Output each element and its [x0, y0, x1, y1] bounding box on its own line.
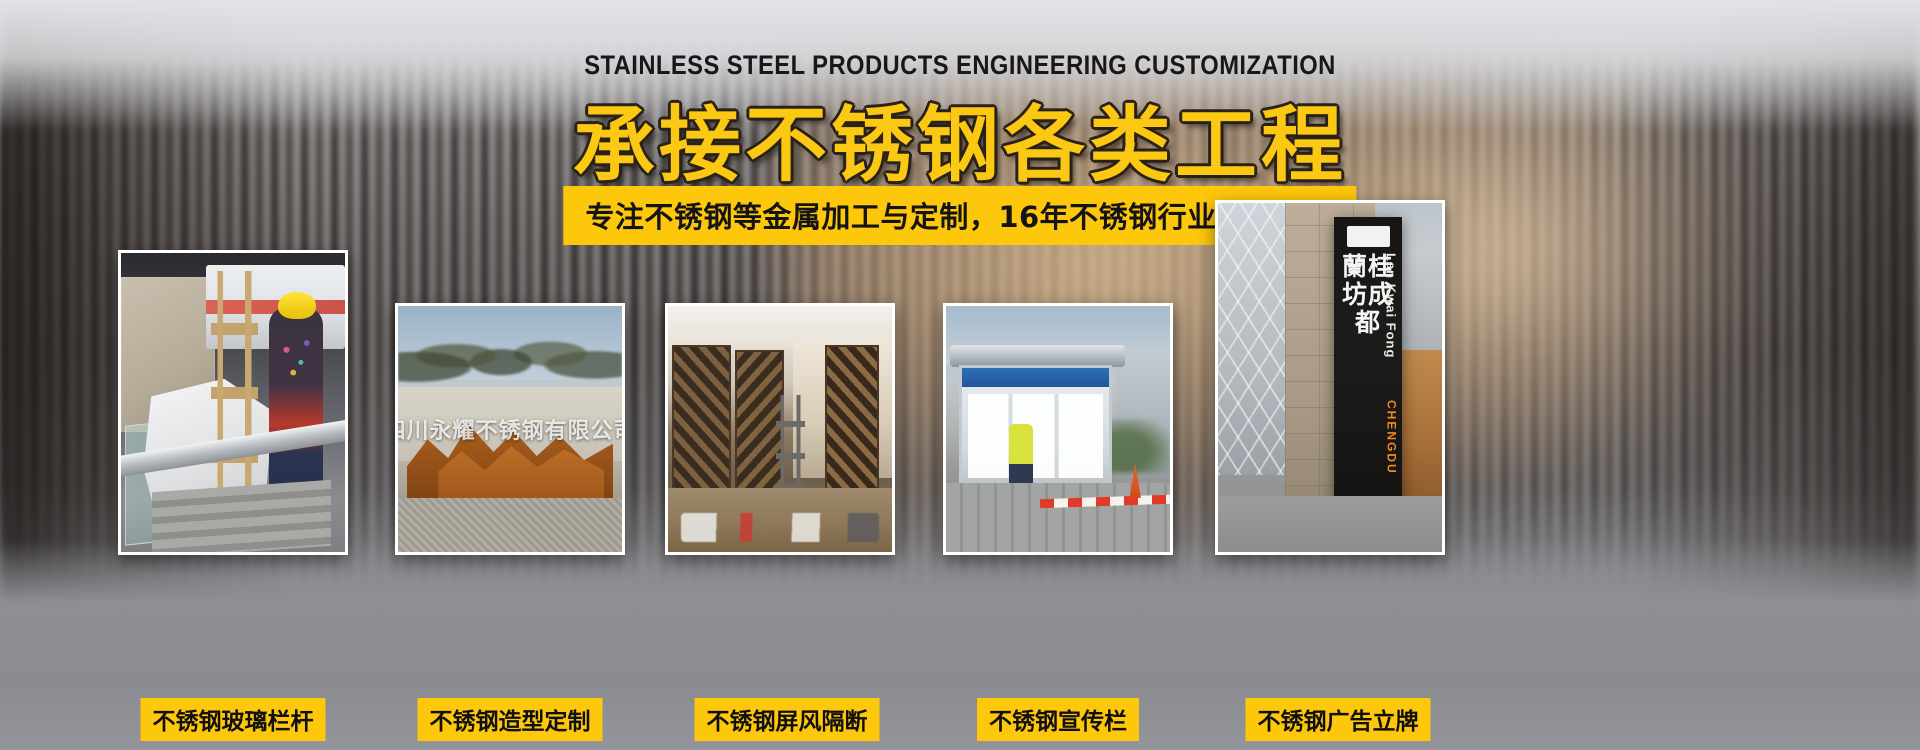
- photo-bulletin-board: [946, 306, 1170, 552]
- promotional-banner: STAINLESS STEEL PRODUCTS ENGINEERING CUS…: [0, 0, 1920, 750]
- photo-glass-railing: [121, 253, 345, 552]
- photo-frame-4: [943, 303, 1173, 555]
- photo-frame-5: 蘭桂坊成都 Lan Kwai Fong CHENGDU: [1215, 200, 1445, 555]
- photo-screen-partition: [668, 306, 892, 552]
- gallery-caption-1: 不锈钢玻璃栏杆: [141, 698, 326, 741]
- sign-brand-sub: CHENGDU: [1384, 400, 1398, 475]
- gallery-item-2[interactable]: 四川永耀不锈钢有限公司: [395, 303, 625, 555]
- photo-advertising-pylon: 蘭桂坊成都 Lan Kwai Fong CHENGDU: [1218, 203, 1442, 552]
- gallery-caption-2: 不锈钢造型定制: [418, 698, 603, 741]
- gallery-item-3[interactable]: [665, 303, 895, 555]
- photo-gallery: 不锈钢玻璃栏杆 四川永耀不锈钢有限公司 不锈钢造型定制: [0, 0, 1920, 750]
- gallery-caption-5: 不锈钢广告立牌: [1246, 698, 1431, 741]
- gallery-item-4[interactable]: [943, 303, 1173, 555]
- sign-brand-en: Lan Kwai Fong: [1384, 253, 1398, 358]
- gallery-item-5[interactable]: 蘭桂坊成都 Lan Kwai Fong CHENGDU: [1215, 200, 1445, 555]
- sign-logo-plate: [1347, 226, 1390, 247]
- gallery-caption-3: 不锈钢屏风隔断: [695, 698, 880, 741]
- gallery-caption-4: 不锈钢宣传栏: [977, 698, 1139, 741]
- photo-steel-sculpture: 四川永耀不锈钢有限公司: [398, 306, 622, 552]
- photo-frame-1: [118, 250, 348, 555]
- gallery-item-1[interactable]: [118, 250, 348, 555]
- photo-frame-3: [665, 303, 895, 555]
- photo-frame-2: 四川永耀不锈钢有限公司: [395, 303, 625, 555]
